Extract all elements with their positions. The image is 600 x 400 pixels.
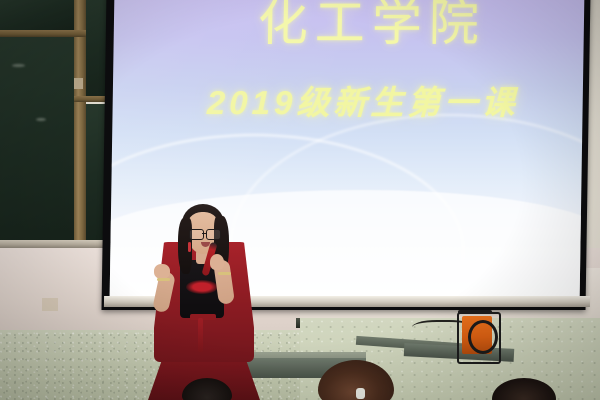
chalkboard-panel <box>0 36 74 242</box>
speaker-earring <box>188 242 191 252</box>
slide-title: 化工学院 <box>114 0 585 48</box>
lecture-hall-photo: 化工学院 2019级新生第一课 <box>0 0 600 400</box>
chalkboard-clip <box>74 78 83 89</box>
glasses-icon <box>206 229 221 240</box>
chalkboard-frame-rail <box>0 30 86 37</box>
chalkboard-frame-rail <box>74 96 108 102</box>
chalk-smudge <box>36 118 46 121</box>
slide-subtitle: 2019级新生第一课 <box>112 86 583 119</box>
cable-reel-frame <box>457 312 501 364</box>
speaker-right-hand <box>210 254 224 270</box>
speaker-bracelet <box>218 272 231 275</box>
chalk-smudge <box>12 64 25 67</box>
audience-object <box>356 388 365 399</box>
chalkboard-panel <box>0 0 74 30</box>
speaker-embroidery <box>186 280 218 294</box>
speaker-person <box>140 198 270 400</box>
glasses-icon <box>189 229 204 240</box>
speaker-sash <box>190 314 216 320</box>
wall-patch <box>42 298 58 311</box>
speaker-bracelet <box>157 278 170 281</box>
speaker-sash-tail <box>198 318 203 352</box>
speaker-left-hand <box>154 264 170 279</box>
glasses-icon <box>202 233 207 234</box>
chalk-tray <box>0 240 118 248</box>
chalkboard-frame-rail <box>74 0 86 248</box>
